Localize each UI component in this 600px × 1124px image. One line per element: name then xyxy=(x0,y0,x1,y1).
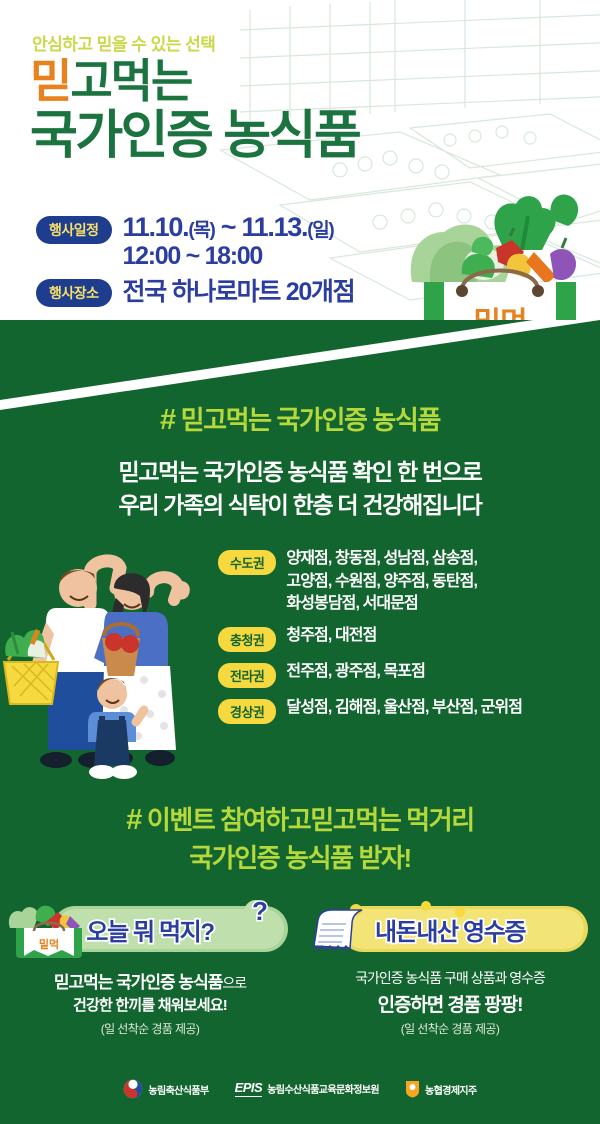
epis-wordmark: EPIS xyxy=(235,1081,263,1096)
logo-nh: 농협경제지주 xyxy=(405,1080,477,1098)
region-store-names: 전주점, 광주점, 목포점 xyxy=(286,661,425,684)
card-line-2: 건강한 한끼를 채워보세요! xyxy=(0,994,300,1015)
card-line-3: (일 선착순 경품 제공) xyxy=(300,1020,600,1037)
region-badge: 충청권 xyxy=(218,627,276,652)
card-line-1: 믿고먹는 국가인증 농식품으로 xyxy=(0,968,300,993)
card-line1-strong: 믿고먹는 국가인증 농식품 xyxy=(54,973,223,992)
region-store-names: 달성점, 김해점, 울산점, 부산점, 군위점 xyxy=(286,697,522,720)
region-badge: 경상권 xyxy=(218,699,276,724)
schedule-time: 12:00 ~ 18:00 xyxy=(123,242,334,271)
nh-shield-icon xyxy=(405,1080,420,1098)
hash-icon: # xyxy=(160,404,175,436)
footer-logos: 농림축산식품부 EPIS 농림수산식품교육문화정보원 농협경제지주 xyxy=(0,1072,600,1106)
card-line1-thin: 으로 xyxy=(222,975,246,991)
diagonal-divider xyxy=(0,320,600,410)
date-end: 11.13. xyxy=(241,212,307,242)
lead-line-1: 믿고먹는 국가인증 농식품 확인 한 번으로 xyxy=(0,456,600,489)
hash-icon: # xyxy=(126,804,141,836)
page-title-line1: 믿고먹는 xyxy=(30,58,191,104)
event-cards: ? 밑먹 오늘 뭐 먹지? 믿고먹는 국가인증 농식품으로 건강한 한끼를 채워… xyxy=(0,894,600,1074)
section2-headline-line1: # 이벤트 참여하고믿고먹는 먹거리 xyxy=(0,800,600,837)
region-store-names: 양재점, 창동점, 성남점, 삼송점, 고양점, 수원점, 양주점, 동탄점, … xyxy=(286,548,477,616)
event-schedule-row: 행사일정 11.10.(목) ~ 11.13.(일) 12:00 ~ 18:00 xyxy=(36,213,416,271)
store-row: 수도권 양재점, 창동점, 성남점, 삼송점, 고양점, 수원점, 양주점, 동… xyxy=(218,548,590,616)
tagline: 안심하고 믿을 수 있는 선택 xyxy=(32,30,215,55)
event-info: 행사일정 11.10.(목) ~ 11.13.(일) 12:00 ~ 18:00… xyxy=(36,213,416,312)
card-line-2: 인증하면 경품 팡팡! xyxy=(300,990,600,1017)
section1-headline: # 믿고먹는 국가인증 농식품 xyxy=(0,400,600,437)
section2-headline-text-2: 국가인증 농식품 받자! xyxy=(189,843,411,873)
date-start-day: (목) xyxy=(188,220,214,241)
card-line-1: 국가인증 농식품 구매 상품과 영수증 xyxy=(300,968,600,988)
section2-headline-text-1: 이벤트 참여하고믿고먹는 먹거리 xyxy=(147,805,474,835)
family-illustration xyxy=(0,534,213,782)
taegeuk-icon xyxy=(123,1079,143,1099)
logo-label: 농협경제지주 xyxy=(425,1082,477,1097)
store-list: 수도권 양재점, 창동점, 성남점, 삼송점, 고양점, 수원점, 양주점, 동… xyxy=(218,548,590,733)
title-green-rest: 고먹는 xyxy=(70,55,191,107)
card-banner-label: 오늘 뭐 먹지? xyxy=(0,912,300,947)
card-line-3: (일 선착순 경품 제공) xyxy=(0,1020,300,1037)
event-card-receipt: 내돈내산 영수증 국가인증 농식품 구매 상품과 영수증 인증하면 경품 팡팡!… xyxy=(300,894,600,1074)
date-end-day: (일) xyxy=(307,220,333,241)
date-tilde: ~ xyxy=(215,212,242,242)
lead-line-2: 우리 가족의 식탁이 한층 더 건강해집니다 xyxy=(0,489,600,522)
region-store-names: 청주점, 대전점 xyxy=(286,625,376,648)
place-value: 전국 하나로마트 20개점 xyxy=(123,278,355,307)
store-row: 경상권 달성점, 김해점, 울산점, 부산점, 군위점 xyxy=(218,697,590,724)
schedule-values: 11.10.(목) ~ 11.13.(일) 12:00 ~ 18:00 xyxy=(123,213,334,271)
store-row: 충청권 청주점, 대전점 xyxy=(218,625,590,652)
title-orange-char: 믿 xyxy=(30,55,70,107)
place-label-badge: 행사장소 xyxy=(36,279,112,307)
section2-headline-line2: 국가인증 농식품 받자! xyxy=(0,838,600,875)
region-badge: 수도권 xyxy=(218,550,276,575)
logo-maf: 농림축산식품부 xyxy=(123,1079,208,1099)
poster-root: 안심하고 믿을 수 있는 선택 믿고먹는 국가인증 농식품 행사일정 11.10… xyxy=(0,0,600,1124)
schedule-date: 11.10.(목) ~ 11.13.(일) xyxy=(123,213,334,242)
event-place-row: 행사장소 전국 하나로마트 20개점 xyxy=(36,276,416,307)
card-banner-label: 내돈내산 영수증 xyxy=(300,912,600,947)
page-title-line2: 국가인증 농식품 xyxy=(30,108,359,164)
section1-lead: 믿고먹는 국가인증 농식품 확인 한 번으로 우리 가족의 식탁이 한층 더 건… xyxy=(0,456,600,521)
logo-label: 농림축산식품부 xyxy=(148,1082,208,1097)
logo-label: 농림수산식품교육문화정보원 xyxy=(267,1081,379,1096)
date-start: 11.10. xyxy=(123,212,189,242)
region-badge: 전라권 xyxy=(218,663,276,688)
event-card-today-menu: ? 밑먹 오늘 뭐 먹지? 믿고먹는 국가인증 농식품으로 건강한 한끼를 채워… xyxy=(0,894,300,1074)
logo-epis: EPIS 농림수산식품교육문화정보원 xyxy=(235,1081,379,1096)
store-row: 전라권 전주점, 광주점, 목포점 xyxy=(218,661,590,688)
schedule-label-badge: 행사일정 xyxy=(36,216,112,244)
section1-headline-text: 믿고먹는 국가인증 농식품 xyxy=(181,405,440,435)
